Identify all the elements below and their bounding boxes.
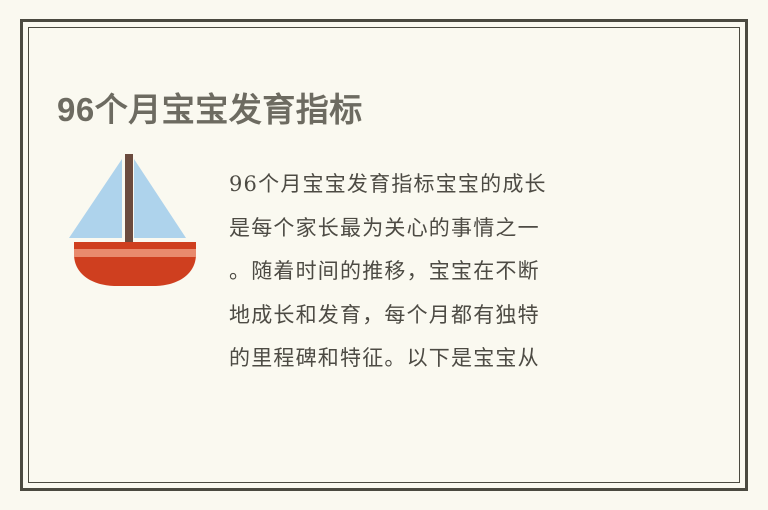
- article-line: 96个月宝宝发育指标宝宝的成长: [229, 163, 653, 207]
- article-line-text: 地成长和发育，每个月都有独特: [229, 294, 540, 338]
- page-title: 96个月宝宝发育指标: [57, 90, 363, 130]
- sailboat-icon: [62, 150, 210, 290]
- article-line-text: 是每个家长最为关心的事情之一: [229, 207, 540, 251]
- article-line-text: 96个月宝宝发育指标宝宝的成长: [229, 163, 547, 207]
- sailboat-left-sail: [69, 159, 122, 238]
- sailboat-right-sail: [134, 159, 186, 238]
- article-page: 96个月宝宝发育指标 96个月宝宝发育指标宝宝的成长 是每个家长最为关心的事情之…: [0, 0, 768, 510]
- article-line-text: 的里程碑和特征。以下是宝宝从: [229, 337, 540, 381]
- article-body: 96个月宝宝发育指标宝宝的成长 是每个家长最为关心的事情之一 。随着时间的推移，…: [229, 163, 653, 381]
- article-line: 的里程碑和特征。以下是宝宝从: [229, 337, 653, 381]
- article-line: 。随着时间的推移，宝宝在不断: [229, 250, 653, 294]
- article-line: 地成长和发育，每个月都有独特: [229, 294, 653, 338]
- sailboat-hull-stripe: [74, 249, 196, 257]
- article-line-text: 。随着时间的推移，宝宝在不断: [229, 250, 540, 294]
- article-line: 是每个家长最为关心的事情之一: [229, 207, 653, 251]
- sailboat-mast: [125, 154, 133, 246]
- sailboat-hull: [74, 242, 196, 286]
